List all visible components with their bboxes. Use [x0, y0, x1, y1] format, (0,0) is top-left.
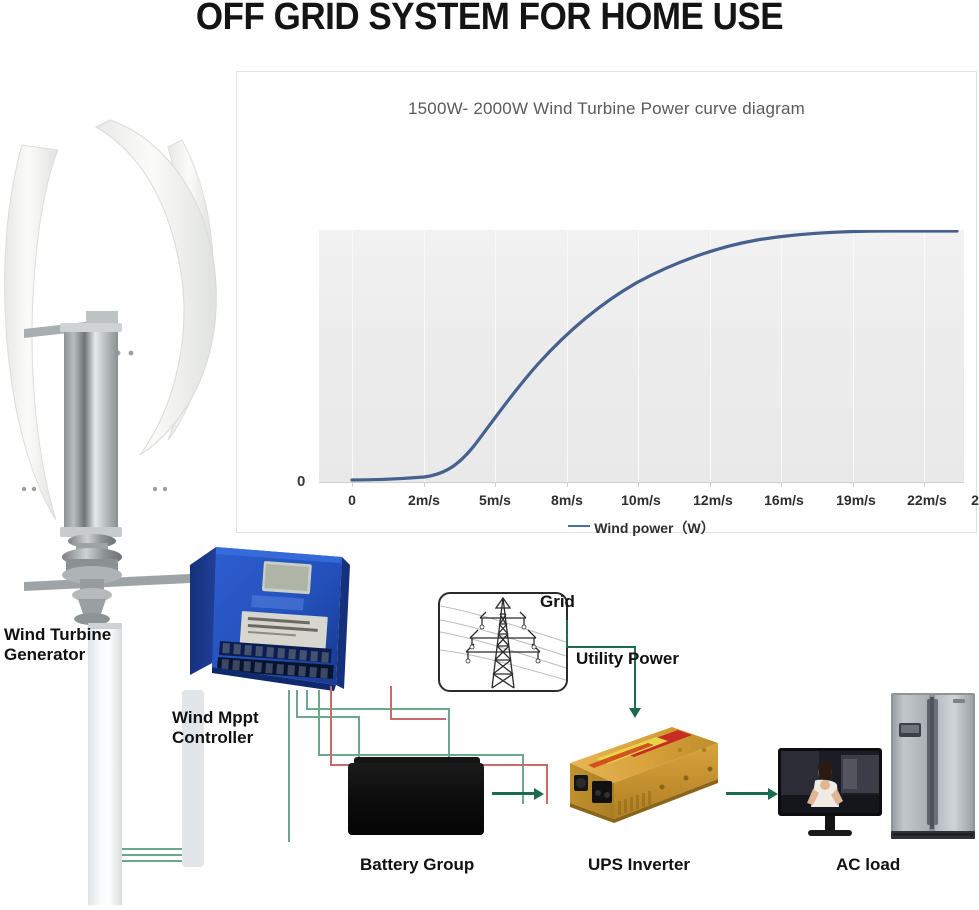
- ups-inverter: [552, 717, 724, 837]
- chart-xtick: 16m/s: [764, 492, 804, 508]
- wind-power-curve: [319, 230, 964, 482]
- tv-screen-content: [781, 751, 879, 813]
- chart-xtick: 22m/s: [907, 492, 947, 508]
- mppt-controller-label: Wind Mppt Controller: [172, 708, 259, 748]
- chart-xtick: 5m/s: [479, 492, 511, 508]
- power-curve-chart-panel: 1500W- 2000W Wind Turbine Power curve di…: [236, 71, 977, 533]
- inverter-illustration: [552, 717, 724, 837]
- chart-xtick: 8m/s: [551, 492, 583, 508]
- legend-label: Wind power（W）: [594, 520, 714, 536]
- tv-frame: [778, 748, 882, 816]
- chart-legend: Wind power（W）: [319, 518, 964, 538]
- chart-xtick: 10m/s: [621, 492, 661, 508]
- refrigerator-ac-load: [891, 693, 975, 841]
- ups-inverter-label: UPS Inverter: [588, 855, 690, 875]
- chart-x-axis: [319, 482, 964, 483]
- refrigerator-illustration: [891, 693, 975, 841]
- grid-label: Grid: [540, 592, 575, 612]
- chart-plot-area: [319, 230, 964, 482]
- mppt-controller-illustration: [186, 543, 358, 693]
- chart-xtick: 0: [348, 492, 356, 508]
- chart-ytick-0: 0: [297, 473, 305, 490]
- battery-group-label: Battery Group: [360, 855, 474, 875]
- page-title: OFF GRID SYSTEM FOR HOME USE: [39, 0, 940, 39]
- battery-group: [348, 757, 484, 839]
- utility-power-label: Utility Power: [576, 649, 679, 669]
- ac-load-label: AC load: [836, 855, 900, 875]
- tv-stand-base: [808, 830, 852, 836]
- chart-title: 1500W- 2000W Wind Turbine Power curve di…: [237, 99, 976, 119]
- tv-stand-neck: [825, 816, 835, 830]
- tv-screen: [781, 751, 879, 813]
- tv-ac-load: [778, 748, 882, 840]
- wind-mppt-controller: [186, 543, 358, 693]
- battery-body: [348, 763, 484, 835]
- wind-turbine-label: Wind Turbine Generator: [4, 625, 111, 665]
- legend-line-swatch: [568, 525, 590, 527]
- chart-xtick: 19m/s: [836, 492, 876, 508]
- chart-xtick: 12m/s: [693, 492, 733, 508]
- chart-xtick: 2m/s: [408, 492, 440, 508]
- chart-plot-wrapper: 0 0 2m/s 5m/s 8m/s 10m/s 12m/s 16m/s 19m…: [319, 230, 964, 552]
- chart-xtick: 25m/s: [971, 492, 979, 508]
